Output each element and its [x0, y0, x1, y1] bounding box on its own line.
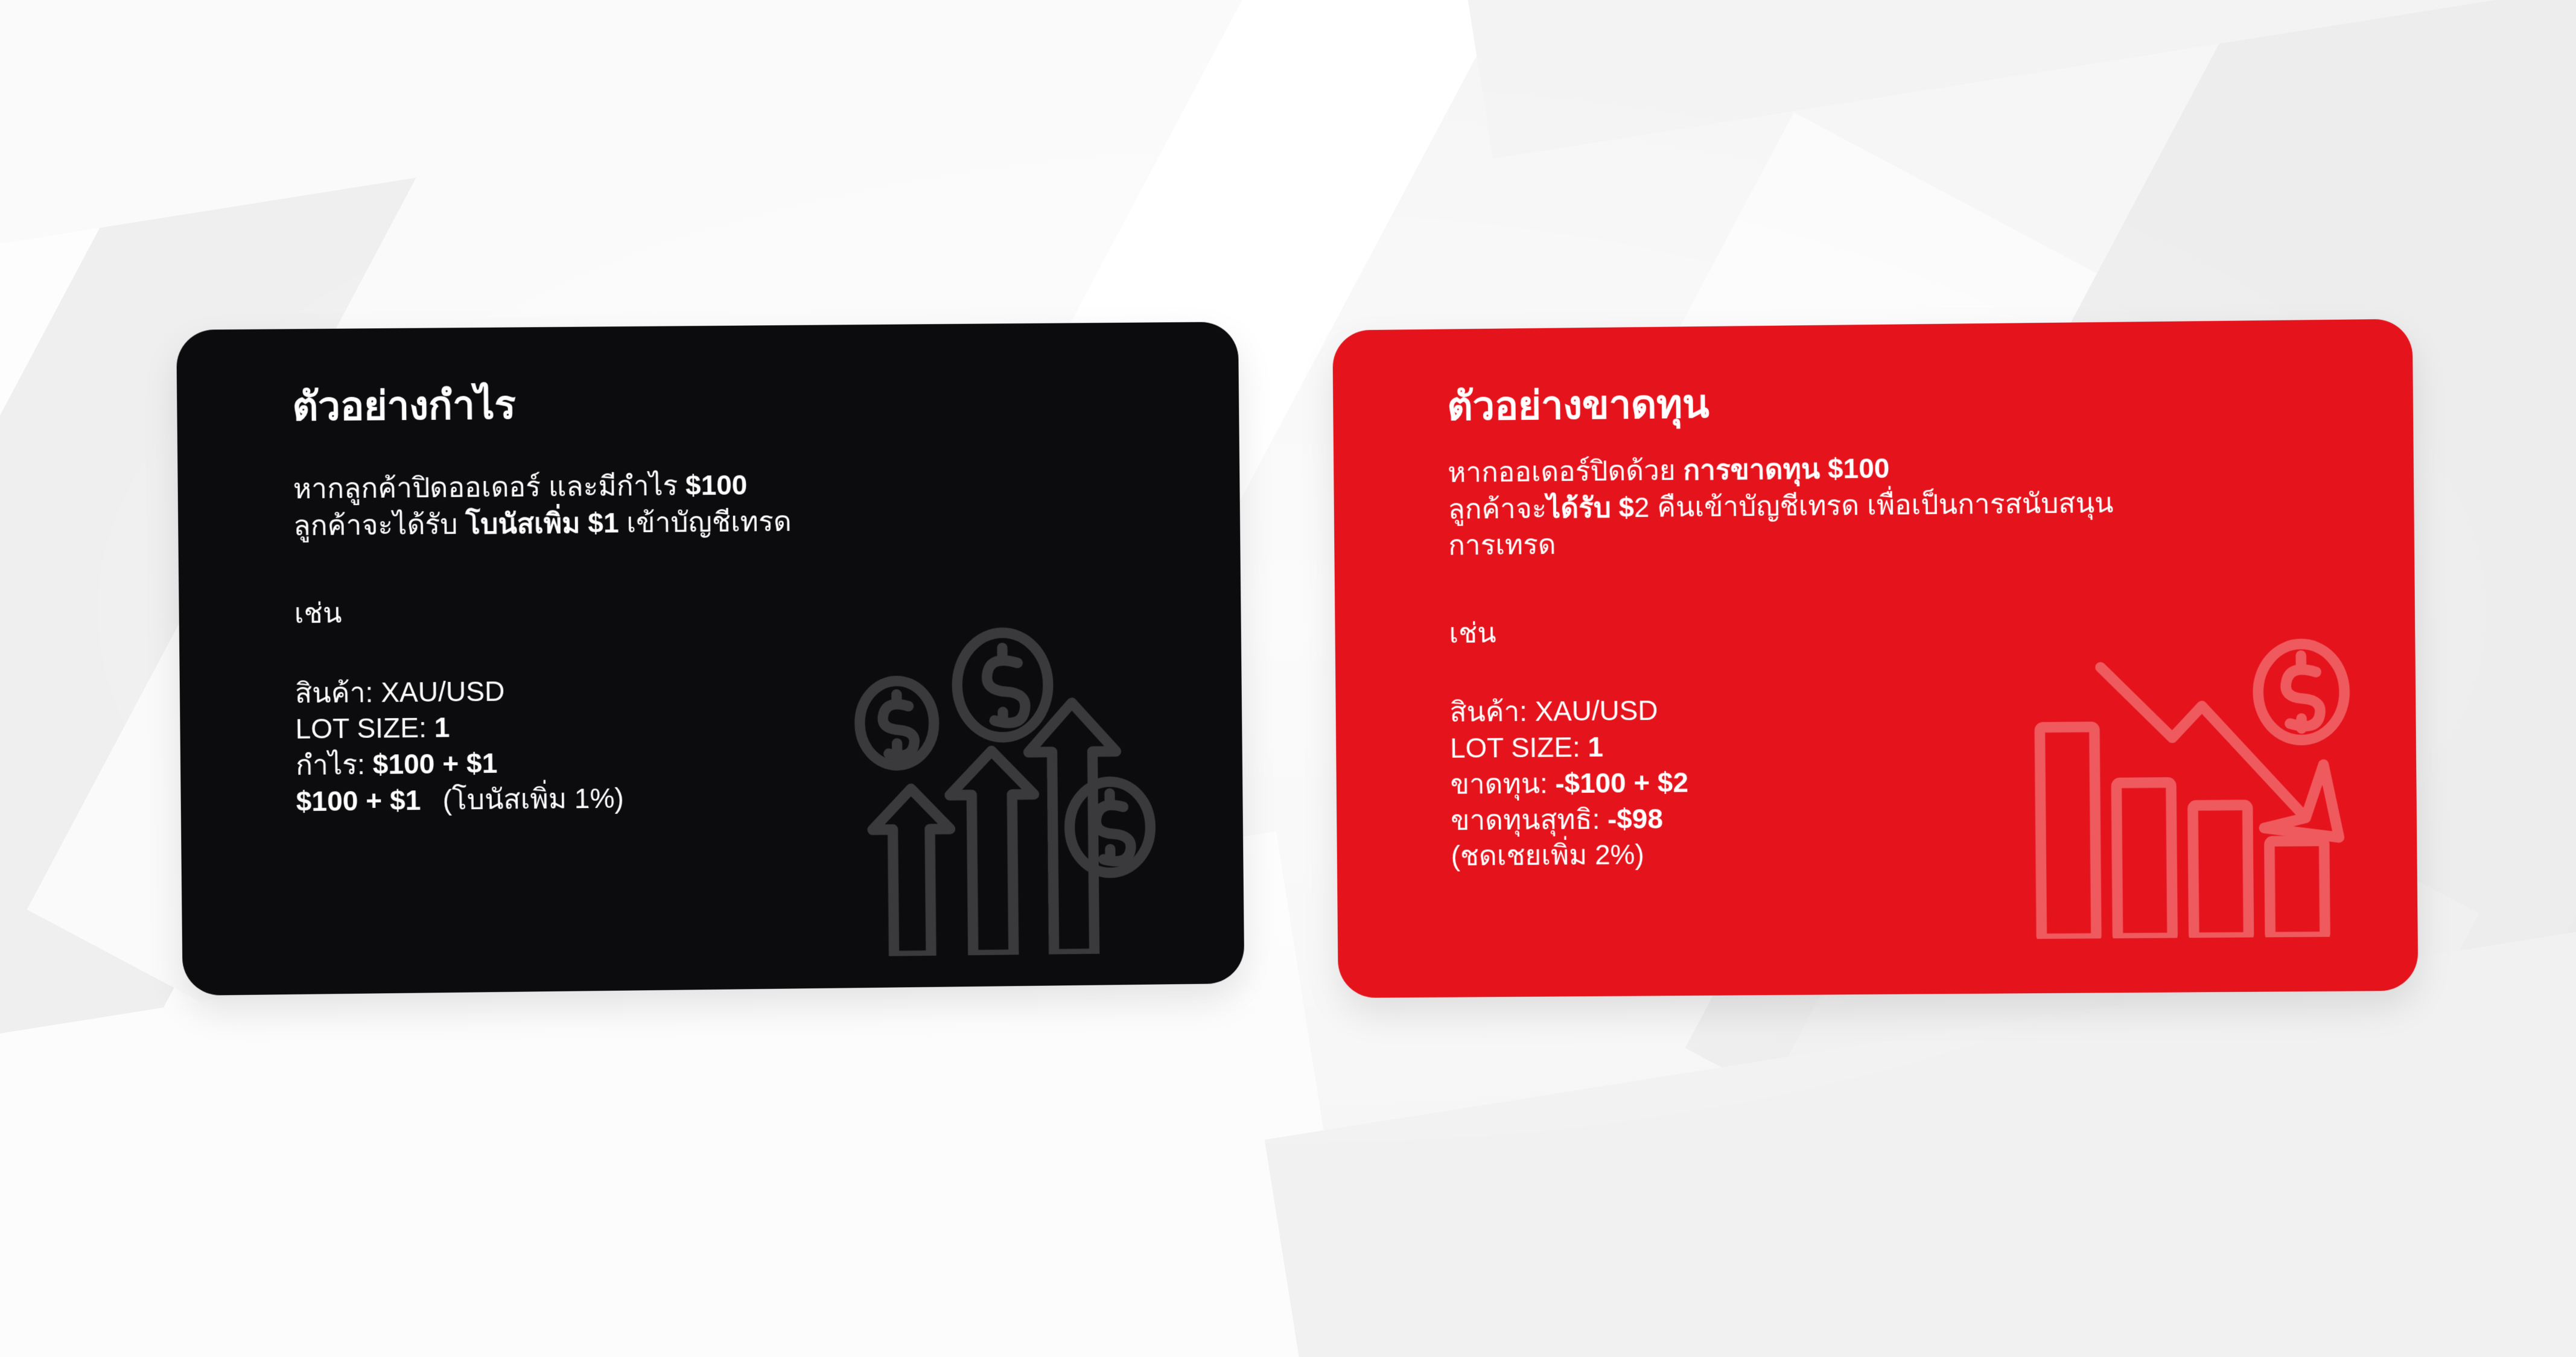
loss-intro-line2-receive: ได้รับ $: [1547, 491, 1634, 523]
loss-intro-line2-amount: 2: [1634, 491, 1650, 523]
loss-detail-note: (ชดเชยเพิ่ม 2%): [1451, 831, 2417, 875]
loss-intro-line2-text: ลูกค้าจะ: [1448, 492, 1547, 524]
loss-loss-value: -$100 + $2: [1555, 766, 1688, 799]
profit-instrument-label: สินค้า:: [295, 676, 381, 709]
loss-lot-label: LOT SIZE:: [1450, 731, 1588, 764]
loss-example-card: ตัวอย่างขาดทุน หากออเดอร์ปิดด้วย การขาดท…: [1332, 319, 2418, 998]
loss-intro-line1-amount: การขาดทุน $100: [1683, 453, 1889, 486]
loss-lot-value: 1: [1588, 731, 1603, 763]
loss-intro-paragraph: หากออเดอร์ปิดด้วย การขาดทุน $100 ลูกค้าจ…: [1448, 445, 2414, 564]
spacer: [1449, 641, 2415, 694]
profit-profit-value: $100 + $1: [372, 748, 497, 780]
profit-lot-value: 1: [434, 712, 450, 743]
profit-intro-line1-amount: $100: [685, 469, 748, 501]
loss-net-value: -$98: [1608, 802, 1663, 834]
profit-intro-line2-text: ลูกค้าจะได้รับ: [293, 508, 466, 541]
profit-card-title: ตัวอย่างกำไร: [292, 377, 1239, 430]
loss-intro-line3: การเทรด: [1448, 529, 1556, 561]
profit-detail-list: สินค้า: XAU/USD LOT SIZE: 1 กำไร: $100 +…: [295, 666, 1243, 820]
profit-example-card: ตัวอย่างกำไร หากลูกค้าปิดออเดอร์ และมีกำ…: [176, 322, 1244, 996]
spacer: [294, 536, 1241, 597]
loss-loss-label: ขาดทุน:: [1450, 767, 1555, 799]
spacer: [1448, 555, 2415, 617]
profit-lot-label: LOT SIZE:: [295, 712, 434, 745]
profit-total-value: $100 + $1: [296, 784, 421, 817]
poster-canvas: ตัวอย่างกำไร หากลูกค้าปิดออเดอร์ และมีกำ…: [0, 0, 2576, 1357]
profit-intro-line2-post: เข้าบัญชีเทรด: [619, 505, 791, 538]
loss-intro-line1-text: หากออเดอร์ปิดด้วย: [1448, 454, 1684, 488]
loss-intro-line2-post: คืนเข้าบัญชีเทรด เพื่อเป็นการสนับสนุน: [1649, 487, 2114, 523]
loss-net-label: ขาดทุนสุทธิ:: [1451, 803, 1608, 836]
profit-intro-line1-text: หากลูกค้าปิดออเดอร์ และมีกำไร: [293, 469, 685, 504]
profit-total-note: (โบนัสเพิ่ม 1%): [442, 782, 624, 815]
loss-detail-list: สินค้า: XAU/USD LOT SIZE: 1 ขาดทุน: -$10…: [1449, 687, 2417, 875]
profit-profit-label: กำไร:: [296, 749, 373, 781]
loss-instrument-label: สินค้า:: [1449, 696, 1534, 728]
loss-instrument-value: XAU/USD: [1534, 694, 1658, 727]
profit-intro-line2-bonus: โบนัสเพิ่ม $1: [465, 507, 619, 539]
loss-card-title: ตัวอย่างขาดทุน: [1447, 375, 2413, 429]
profit-instrument-value: XAU/USD: [381, 675, 505, 708]
profit-intro-paragraph: หากลูกค้าปิดออเดอร์ และมีกำไร $100 ลูกค้…: [293, 462, 1240, 544]
